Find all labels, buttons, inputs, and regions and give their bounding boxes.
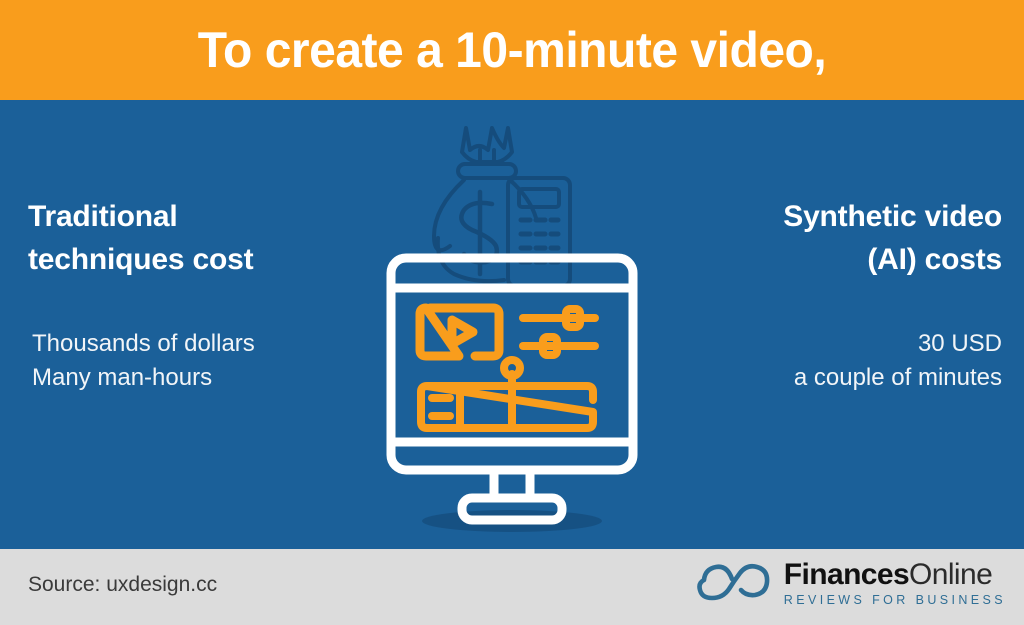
- financesonline-logo[interactable]: FinancesOnline REVIEWS FOR BUSINESS: [696, 557, 1006, 610]
- source-attribution: Source: uxdesign.cc: [28, 573, 217, 597]
- logo-tagline: REVIEWS FOR BUSINESS: [784, 594, 1006, 607]
- video-preview-play-icon: [420, 308, 499, 356]
- left-heading-line-2: techniques cost: [28, 239, 358, 282]
- infographic-canvas: To create a 10-minute video, Traditional…: [0, 0, 1024, 625]
- left-detail-line-2: Many man-hours: [32, 361, 358, 395]
- right-detail-line-2: a couple of minutes: [672, 361, 1002, 395]
- page-title: To create a 10-minute video,: [20, 0, 1003, 100]
- logo-word: FinancesOnline: [784, 558, 992, 591]
- right-column: Synthetic video (AI) costs 30 USD a coup…: [672, 196, 1002, 395]
- left-detail-line-1: Thousands of dollars: [32, 327, 358, 361]
- logo-word-bold: Finances: [784, 558, 909, 591]
- right-detail-line-1: 30 USD: [672, 327, 1002, 361]
- timeline-playhead-icon: [504, 360, 520, 428]
- left-column-heading: Traditional techniques cost: [28, 196, 358, 281]
- left-column-details: Thousands of dollars Many man-hours: [28, 327, 358, 395]
- right-column-heading: Synthetic video (AI) costs: [672, 196, 1002, 281]
- right-column-details: 30 USD a couple of minutes: [672, 327, 1002, 395]
- left-heading-line-1: Traditional: [28, 196, 358, 239]
- calculator-icon: [508, 178, 570, 286]
- cloud-infinity-logo-icon: [696, 557, 772, 610]
- logo-word-light: Online: [909, 558, 992, 591]
- right-heading-line-2: (AI) costs: [672, 239, 1002, 282]
- left-column: Traditional techniques cost Thousands of…: [28, 196, 358, 395]
- center-illustration: [380, 112, 644, 537]
- logo-wordmark: FinancesOnline REVIEWS FOR BUSINESS: [784, 560, 1006, 607]
- video-timeline-icon: [421, 386, 593, 428]
- right-heading-line-1: Synthetic video: [672, 196, 1002, 239]
